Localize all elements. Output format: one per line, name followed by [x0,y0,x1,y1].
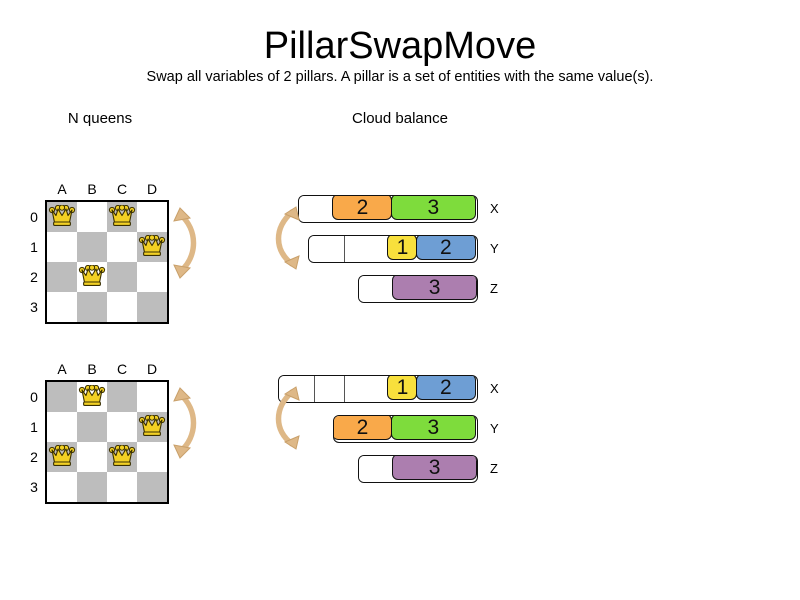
queens-swap-arrow-bottom [168,378,208,468]
cloud-swap-arrow-top [266,198,306,278]
queen-icon [48,205,76,229]
cloud-bar-empty-segment-0[interactable] [359,276,394,302]
queen-icon [48,445,76,469]
board-cell-c2[interactable] [107,442,137,472]
board-cell-c3[interactable] [107,472,137,502]
cloud-bar-label-y: Y [490,415,499,443]
cloud-bar-process-blue[interactable]: 2 [416,375,476,400]
cloud-bar-process-purple[interactable]: 3 [392,455,477,480]
cloud-bar-row-y: 12Y [290,235,520,265]
cloud-swap-arrow-bottom [266,378,306,458]
board-cell-c3[interactable] [107,292,137,322]
row-header-2: 2 [25,442,43,472]
column-header-b: B [77,360,107,378]
board-cell-a3[interactable] [47,472,77,502]
board-cell-d3[interactable] [137,472,167,502]
section-heading-n-queens: N queens [30,110,170,128]
queen-icon [78,265,106,289]
column-header-b: B [77,180,107,198]
cloud-bar-process-yellow[interactable]: 1 [387,375,417,400]
cloud-bar-row-z: 3Z [290,455,520,485]
cloud-bar-label-x: X [490,195,499,223]
cloud-bar-label-y: Y [490,235,499,263]
board-cell-a1[interactable] [47,412,77,442]
cloud-bar-empty-segment-0[interactable] [309,236,344,262]
board-cell-a0[interactable] [47,382,77,412]
board-cell-b3[interactable] [77,292,107,322]
slide-canvas: PillarSwapMove Swap all variables of 2 p… [0,0,800,600]
row-header-3: 3 [25,292,43,322]
cloud-bar-label-z: Z [490,275,498,303]
board-cell-a3[interactable] [47,292,77,322]
cloud-bar-x[interactable]: 12 [278,375,478,403]
cloud-bar-y[interactable]: 23 [333,415,478,443]
cloud-bar-process-orange[interactable]: 2 [333,415,392,440]
column-header-c: C [107,360,137,378]
cloud-bar-process-green[interactable]: 3 [391,415,476,440]
row-header-1: 1 [25,232,43,262]
board-cell-d3[interactable] [137,292,167,322]
column-header-c: C [107,180,137,198]
cloud-bar-label-z: Z [490,455,498,483]
column-header-a: A [47,360,77,378]
board-cell-b1[interactable] [77,232,107,262]
board-cell-d1[interactable] [137,412,167,442]
cloud-bar-process-purple[interactable]: 3 [392,275,477,300]
cloud-bar-empty-segment-1[interactable] [314,376,344,402]
cloud-bars-before: 23X12Y3Z [290,195,520,315]
board-cell-b0[interactable] [77,202,107,232]
cloud-bar-row-z: 3Z [290,275,520,305]
board-cell-b2[interactable] [77,262,107,292]
board-cell-b2[interactable] [77,442,107,472]
cloud-bar-x[interactable]: 23 [298,195,478,223]
board-cell-b0[interactable] [77,382,107,412]
cloud-bar-row-x: 23X [290,195,520,225]
cloud-bar-process-blue[interactable]: 2 [416,235,476,260]
queens-swap-arrow-top [168,198,208,288]
cloud-bar-row-x: 12X [290,375,520,405]
column-header-d: D [137,180,167,198]
column-header-d: D [137,360,167,378]
queen-icon [78,385,106,409]
board-cell-a1[interactable] [47,232,77,262]
board-cell-b1[interactable] [77,412,107,442]
board-cell-d2[interactable] [137,262,167,292]
row-header-0: 0 [25,202,43,232]
row-header-1: 1 [25,412,43,442]
board-cell-a2[interactable] [47,262,77,292]
section-heading-cloud-balance: Cloud balance [330,110,470,128]
cloud-bar-empty-segment-1[interactable] [344,236,389,262]
page-title: PillarSwapMove [0,24,800,68]
board-cell-c2[interactable] [107,262,137,292]
cloud-bar-row-y: 23Y [290,415,520,445]
cloud-bars-after: 12X23Y3Z [290,375,520,495]
queen-icon [138,415,166,439]
board-cell-d0[interactable] [137,382,167,412]
board-cell-d2[interactable] [137,442,167,472]
cloud-bar-empty-segment-2[interactable] [344,376,389,402]
cloud-bar-z[interactable]: 3 [358,455,478,483]
column-header-a: A [47,180,77,198]
board-cell-a0[interactable] [47,202,77,232]
board-cell-d0[interactable] [137,202,167,232]
cloud-bar-z[interactable]: 3 [358,275,478,303]
board-cell-a2[interactable] [47,442,77,472]
cloud-bar-process-green[interactable]: 3 [391,195,476,220]
queen-icon [108,445,136,469]
row-header-3: 3 [25,472,43,502]
cloud-bar-process-orange[interactable]: 2 [332,195,392,220]
board-cell-c1[interactable] [107,412,137,442]
cloud-bar-label-x: X [490,375,499,403]
cloud-bar-empty-segment-0[interactable] [359,456,394,482]
board-cell-c1[interactable] [107,232,137,262]
queen-icon [108,205,136,229]
board-cell-c0[interactable] [107,382,137,412]
board-grid [45,380,169,504]
queen-icon [138,235,166,259]
page-subtitle: Swap all variables of 2 pillars. A pilla… [0,68,800,86]
row-header-2: 2 [25,262,43,292]
row-header-0: 0 [25,382,43,412]
board-cell-c0[interactable] [107,202,137,232]
board-grid [45,200,169,324]
cloud-bar-y[interactable]: 12 [308,235,478,263]
board-cell-b3[interactable] [77,472,107,502]
board-cell-d1[interactable] [137,232,167,262]
cloud-bar-process-yellow[interactable]: 1 [387,235,417,260]
